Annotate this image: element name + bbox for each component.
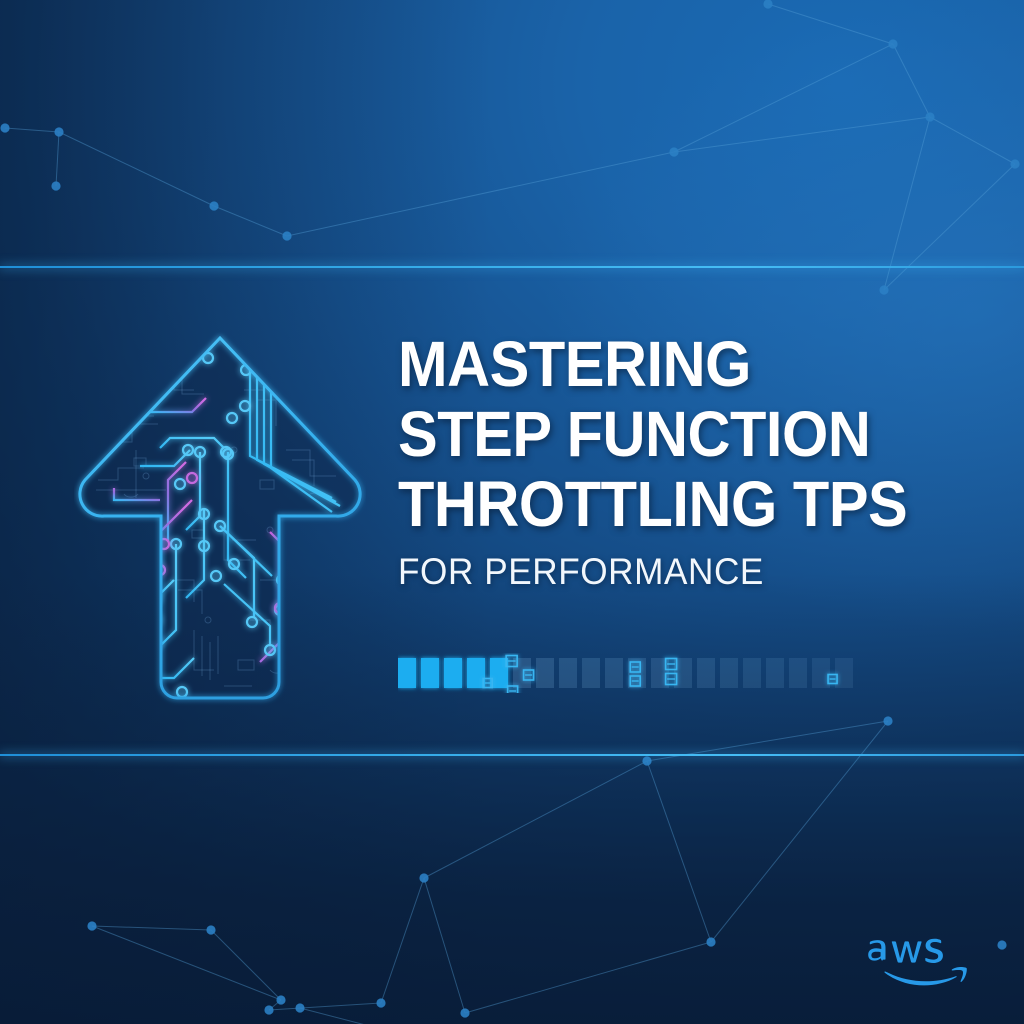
bar-block: [720, 658, 738, 688]
bar-block: [421, 658, 439, 688]
bar-block: [582, 658, 600, 688]
bar-block: [743, 658, 761, 688]
top-divider: [0, 266, 1024, 268]
bar-block: [766, 658, 784, 688]
headline-line-3: THROTTLING TPS: [398, 470, 882, 540]
bar-block: [605, 658, 623, 688]
bar-block: [398, 658, 416, 688]
bar-block: [536, 658, 554, 688]
poster-canvas: MASTERING STEP FUNCTION THROTTLING TPS F…: [0, 0, 1024, 1024]
bar-block: [697, 658, 715, 688]
bottom-divider: [0, 754, 1024, 756]
block-progress-bar: [398, 653, 858, 693]
subheadline: FOR PERFORMANCE: [398, 553, 892, 590]
headline-line-1: MASTERING: [398, 330, 882, 400]
bar-block: [559, 658, 577, 688]
circuit-arrow: [74, 330, 366, 712]
aws-logo: [866, 928, 978, 990]
bar-block: [789, 658, 807, 688]
title-block: MASTERING STEP FUNCTION THROTTLING TPS F…: [398, 330, 918, 590]
headline-line-2: STEP FUNCTION: [398, 400, 882, 470]
bar-block: [444, 658, 462, 688]
bar-block: [467, 658, 485, 688]
bar-block: [513, 658, 531, 688]
